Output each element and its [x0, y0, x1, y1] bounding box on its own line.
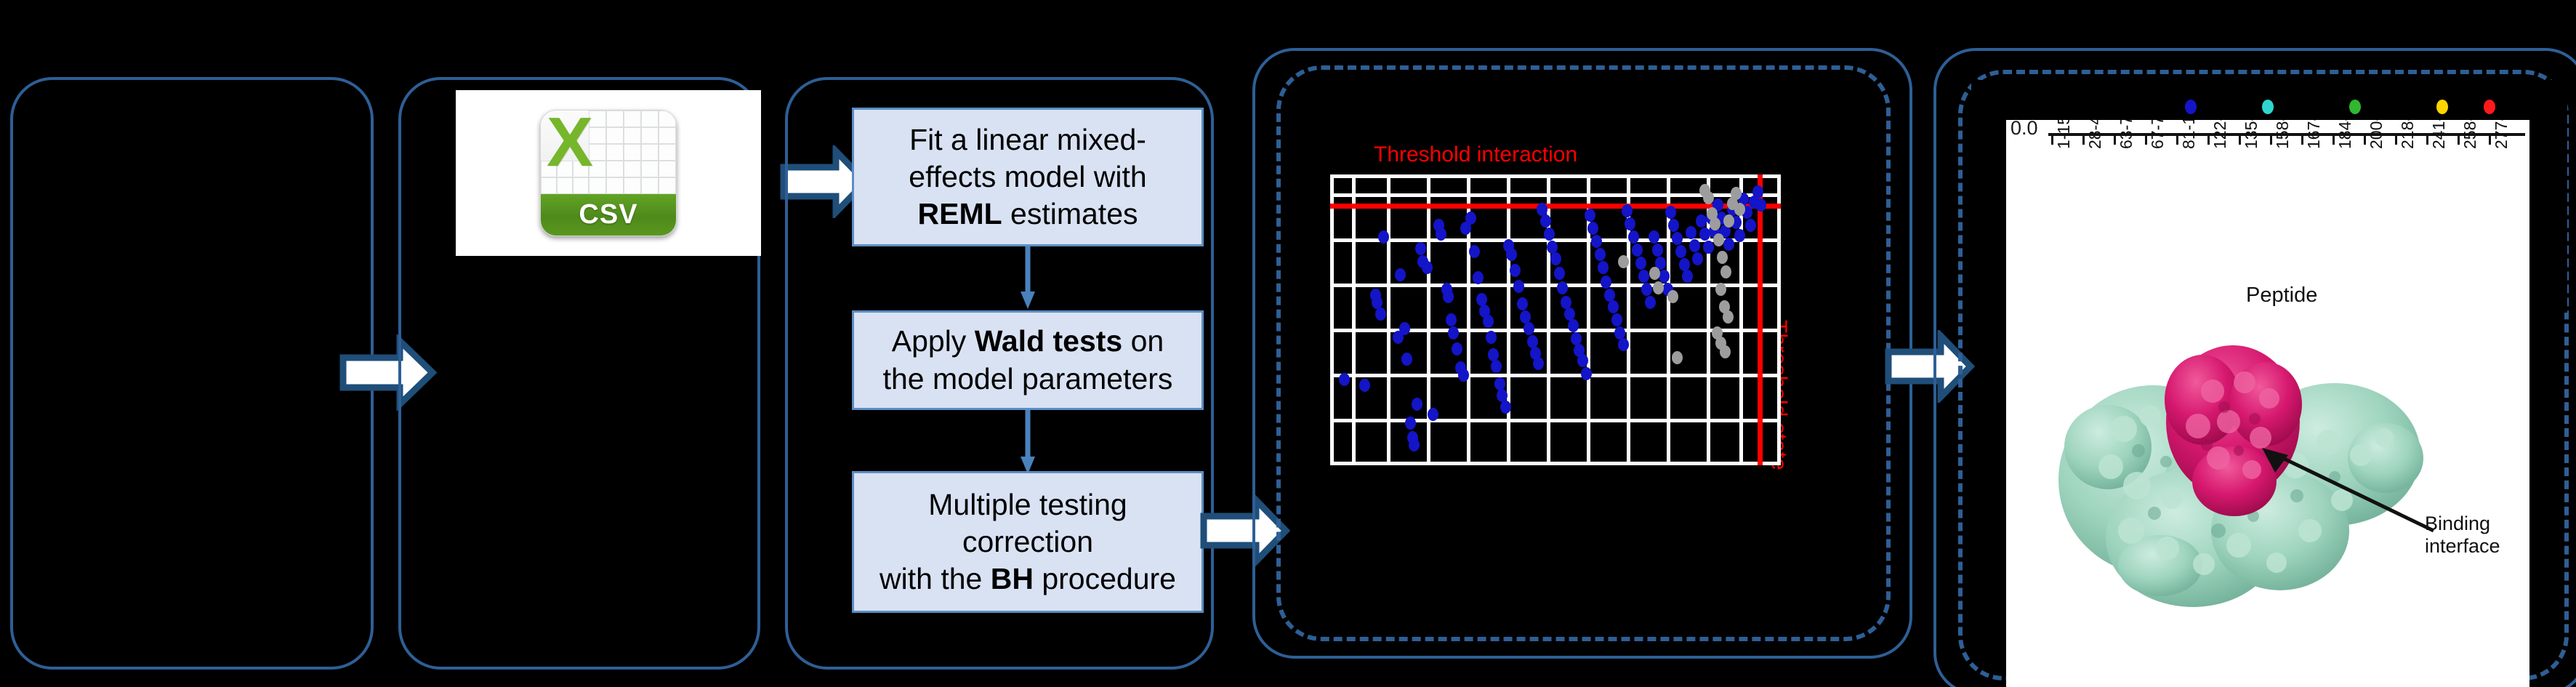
scatter-point — [1675, 245, 1686, 258]
scatter-point — [1659, 270, 1670, 283]
scatter-point — [1415, 242, 1426, 255]
legend-dot-5 — [2484, 100, 2495, 114]
scatter-point — [1359, 379, 1370, 392]
binding-interface-label: Binding interface — [2425, 513, 2500, 558]
scatter-point — [1717, 251, 1728, 264]
scatter-point — [1524, 322, 1534, 335]
scatter-point — [1686, 226, 1696, 239]
peptide-axis-title: Peptide — [2246, 284, 2317, 308]
scatter-point — [1446, 313, 1457, 326]
scatter-point — [1510, 264, 1521, 277]
csv-label: CSV — [579, 199, 637, 230]
scatter-point — [1395, 268, 1406, 281]
y-axis-last-tick: 0.0 — [2011, 120, 2038, 140]
x-tick — [2051, 133, 2053, 145]
scatter-point — [1458, 369, 1469, 382]
scatter-point — [1473, 271, 1484, 284]
scatter-point — [1618, 338, 1629, 351]
scatter-point — [1550, 252, 1561, 265]
x-tick — [2364, 133, 2366, 145]
scatter-point — [1672, 351, 1683, 364]
scatter-point — [1710, 217, 1720, 230]
scatter-point — [1544, 228, 1555, 241]
scatter-point — [1628, 230, 1639, 244]
scatter-point — [1703, 241, 1714, 254]
connector-fit-to-wald — [1018, 246, 1037, 310]
scatter-point — [1723, 214, 1734, 228]
scatter-point — [1667, 290, 1678, 303]
scatter-point — [1652, 244, 1663, 257]
scatter-point — [1587, 222, 1598, 235]
x-tick — [2207, 133, 2210, 145]
scatter-point — [1469, 245, 1480, 258]
threshold-state-line — [1758, 174, 1763, 465]
scatter-point — [1409, 438, 1420, 451]
x-tick — [2301, 133, 2303, 145]
scatter-point — [1635, 257, 1646, 270]
scatter-point — [1585, 209, 1595, 222]
csv-band: CSV — [541, 194, 676, 236]
scatter-point — [1731, 187, 1742, 200]
scatter-point — [1745, 219, 1756, 232]
flowbox-bh-correction: Multiple testingcorrectionwith the BH pr… — [852, 471, 1204, 613]
scatter-point — [1591, 235, 1602, 248]
scatter-point — [1533, 357, 1544, 370]
scatter-point — [1500, 401, 1511, 414]
protein-structure-image — [2044, 313, 2466, 625]
scatter-point — [1401, 353, 1412, 366]
scatter-point — [1703, 191, 1714, 204]
peptide-tick-label: 184-199 — [2335, 120, 2355, 149]
x-tick — [2333, 133, 2335, 145]
scatter-point — [1506, 248, 1517, 261]
scatter-point — [1734, 229, 1745, 242]
scatter-point — [1672, 232, 1683, 245]
scatter-point — [1755, 198, 1766, 212]
legend-dot-2 — [2262, 100, 2274, 114]
connector-wald-to-bh — [1018, 410, 1037, 475]
peptide-tick-label: 277-284 — [2492, 120, 2511, 149]
scatter-point — [1443, 290, 1454, 303]
peptide-tick-label: 167-180 — [2304, 120, 2324, 149]
scatter-point — [1452, 342, 1462, 355]
scatter-point — [1608, 300, 1619, 313]
scatter-point — [1595, 248, 1606, 261]
peptide-tick-label: 158-166 — [2273, 120, 2293, 149]
peptide-axis-and-structure: 0.0 1-1528-4463-7367-7581-101122-129135-… — [2006, 120, 2529, 687]
peptide-tick-label: 122-129 — [2210, 120, 2230, 149]
x-tick — [2114, 133, 2116, 145]
scatter-point — [1668, 219, 1679, 232]
scatter-point — [1598, 261, 1609, 274]
scatter-point — [1491, 360, 1502, 373]
x-tick — [2395, 133, 2397, 145]
x-tick — [2239, 133, 2241, 145]
x-tick — [2489, 133, 2491, 145]
peptide-tick-label: 67-75 — [2148, 120, 2168, 149]
scatter-point — [1618, 255, 1629, 268]
scatter-point — [1720, 265, 1731, 278]
threshold-interaction-label: Threshold interaction — [1374, 142, 1577, 167]
scatter-point — [1486, 331, 1497, 344]
scatter-point — [1339, 373, 1350, 386]
scatter-point — [1734, 203, 1745, 216]
peptide-tick-label: 135-144 — [2242, 120, 2261, 149]
scatter-point — [1412, 398, 1422, 411]
scatter-point — [1622, 204, 1633, 217]
scatter-point — [1641, 283, 1652, 296]
scatter-point — [1405, 417, 1416, 430]
x-tick — [2426, 133, 2428, 145]
x-tick — [2270, 133, 2272, 145]
x-tick — [2176, 133, 2178, 145]
scatter-point — [1720, 345, 1731, 358]
flowbox-fit-model: Fit a linear mixed-effects model withREM… — [852, 108, 1204, 246]
scatter-point — [1665, 206, 1676, 219]
scatter-point — [1483, 315, 1494, 328]
peptide-tick-label: 1-15 — [2054, 120, 2074, 149]
legend-dot-3 — [2349, 100, 2361, 114]
scatter-point — [1625, 217, 1635, 230]
scatter-point — [1399, 322, 1410, 335]
legend-dot-1 — [2185, 100, 2197, 114]
x-tick — [2082, 133, 2085, 145]
scatter-point — [1723, 310, 1734, 324]
x-tick — [2145, 133, 2147, 145]
scatter-point — [1611, 313, 1622, 326]
peptide-tick-label: 63-73 — [2117, 120, 2136, 149]
scatter-point — [1557, 281, 1568, 294]
scatter-point — [1448, 326, 1459, 340]
peptide-tick-label: 28-44 — [2085, 120, 2105, 149]
legend-dot-4 — [2436, 100, 2448, 114]
peptide-tick-label: 81-101 — [2179, 120, 2199, 149]
excel-x-glyph: X — [547, 110, 593, 177]
scatter-point — [1517, 297, 1528, 310]
csv-file-card: X CSV — [456, 90, 761, 256]
peptide-tick-label: 258-266 — [2460, 120, 2480, 149]
scatter-point — [1638, 270, 1649, 283]
flowbox-wald-tests: Apply Wald tests onthe model parameters — [852, 310, 1204, 410]
workflow-figure: X CSV Fit a linear mixed-effects model w… — [0, 0, 2576, 687]
scatter-point — [1513, 280, 1524, 293]
scatter-point — [1568, 319, 1579, 332]
peptide-tick-label: 241-257 — [2429, 120, 2449, 149]
csv-file-icon: X CSV — [540, 110, 677, 236]
volcano-grid — [1330, 174, 1781, 465]
peptide-tick-label: 218-237 — [2398, 120, 2418, 149]
scatter-point — [1696, 214, 1707, 228]
scatter-point — [1752, 185, 1763, 198]
scatter-point — [1465, 212, 1476, 225]
panel-1-input — [10, 77, 374, 670]
scatter-point — [1632, 244, 1643, 257]
volcano-plot: Threshold interaction Threshold state — [1301, 102, 1875, 582]
scatter-point — [1723, 238, 1734, 251]
scatter-point — [1436, 228, 1446, 241]
x-tick — [2458, 133, 2460, 145]
scatter-point — [1689, 239, 1700, 252]
scatter-point — [1715, 283, 1726, 296]
scatter-point — [1422, 261, 1433, 274]
peptide-tick-label: 200-214 — [2367, 120, 2386, 149]
scatter-point — [1375, 308, 1386, 321]
scatter-point — [1692, 252, 1703, 265]
scatter-point — [1682, 270, 1693, 283]
scatter-point — [1554, 267, 1565, 280]
scatter-point — [1645, 296, 1656, 309]
